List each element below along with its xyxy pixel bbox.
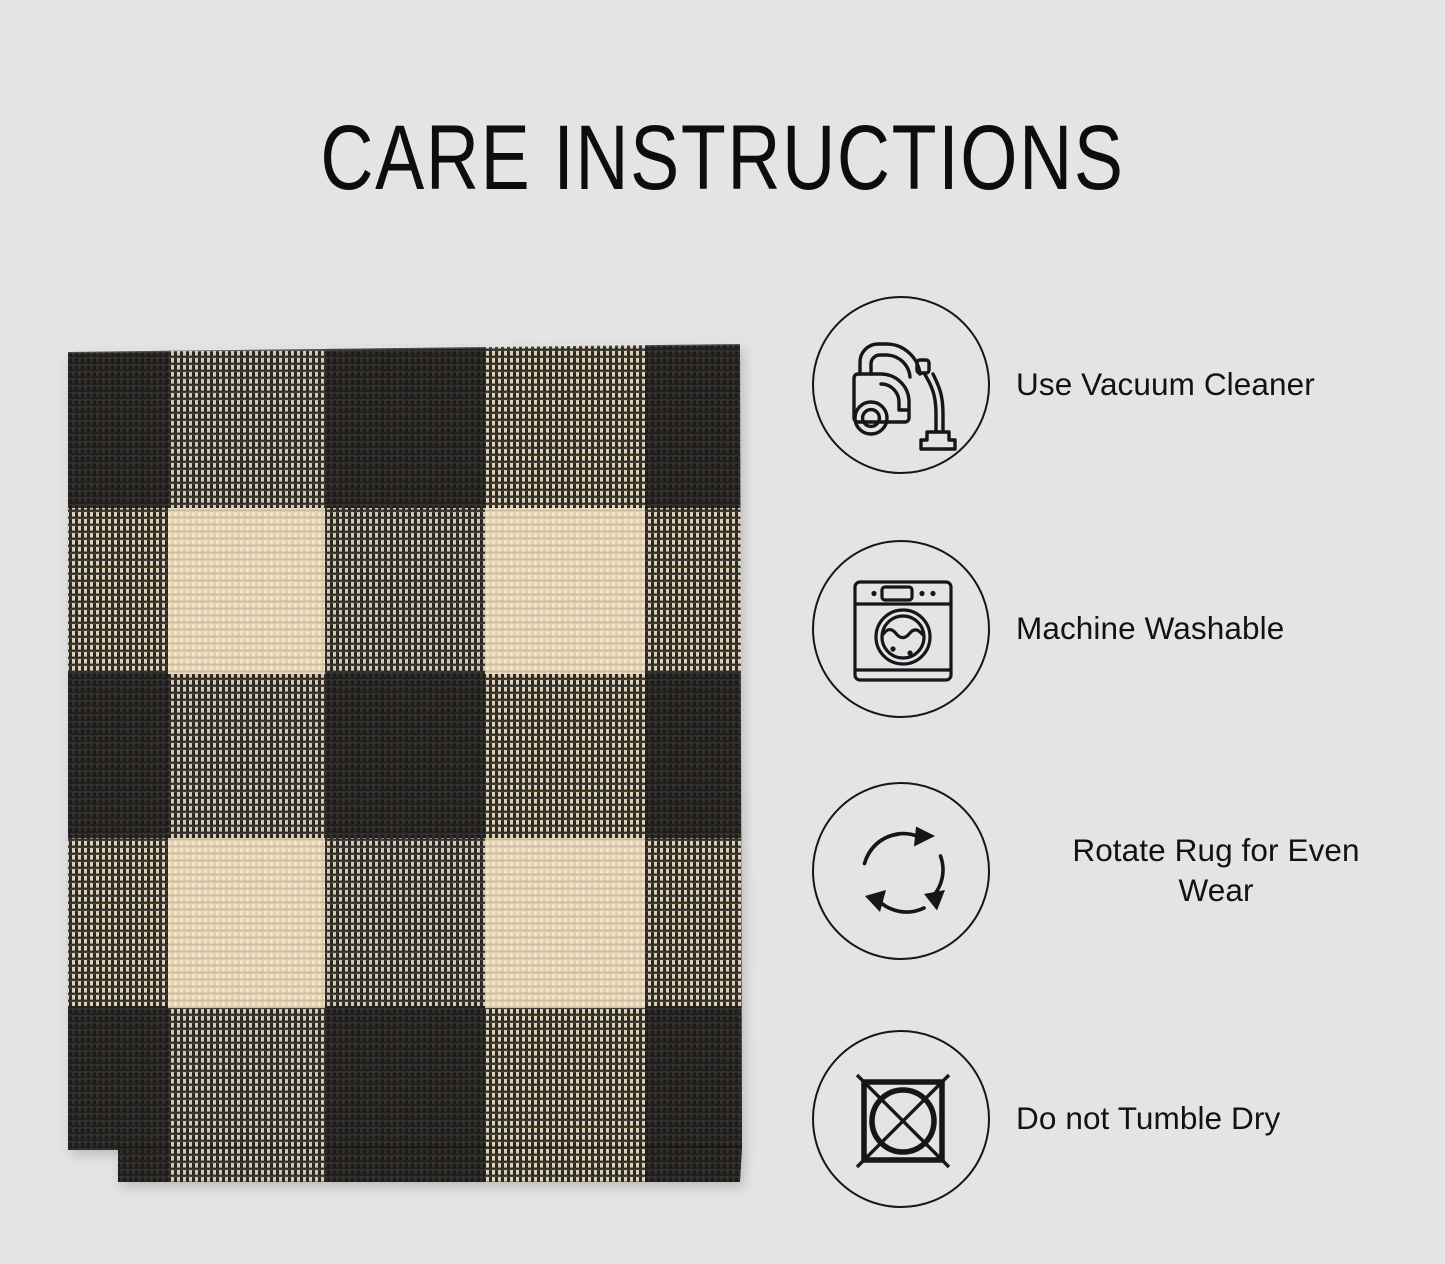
care-item-label: Rotate Rug for Even Wear: [1016, 831, 1416, 910]
care-item-label: Do not Tumble Dry: [1016, 1099, 1416, 1139]
no-tumble-dry-icon: [812, 1030, 990, 1208]
care-item-machine-washable: Machine Washable: [812, 540, 1445, 718]
care-instruction-list: Use Vacuum Cleaner: [812, 282, 1445, 1262]
rotate-arrows-icon: [812, 782, 990, 960]
care-item-rotate: Rotate Rug for Even Wear: [812, 782, 1445, 960]
care-item-vacuum: Use Vacuum Cleaner: [812, 296, 1445, 474]
rug-illustration: [0, 0, 790, 1264]
washing-machine-icon: [812, 540, 990, 718]
care-item-label: Machine Washable: [1016, 609, 1416, 649]
care-instructions-page: CARE INSTRUCTIONS: [0, 0, 1445, 1264]
care-item-no-tumble-dry: Do not Tumble Dry: [812, 1030, 1445, 1208]
care-item-label: Use Vacuum Cleaner: [1016, 365, 1416, 405]
vacuum-cleaner-icon: [812, 296, 990, 474]
product-image-rug: [0, 0, 790, 1264]
